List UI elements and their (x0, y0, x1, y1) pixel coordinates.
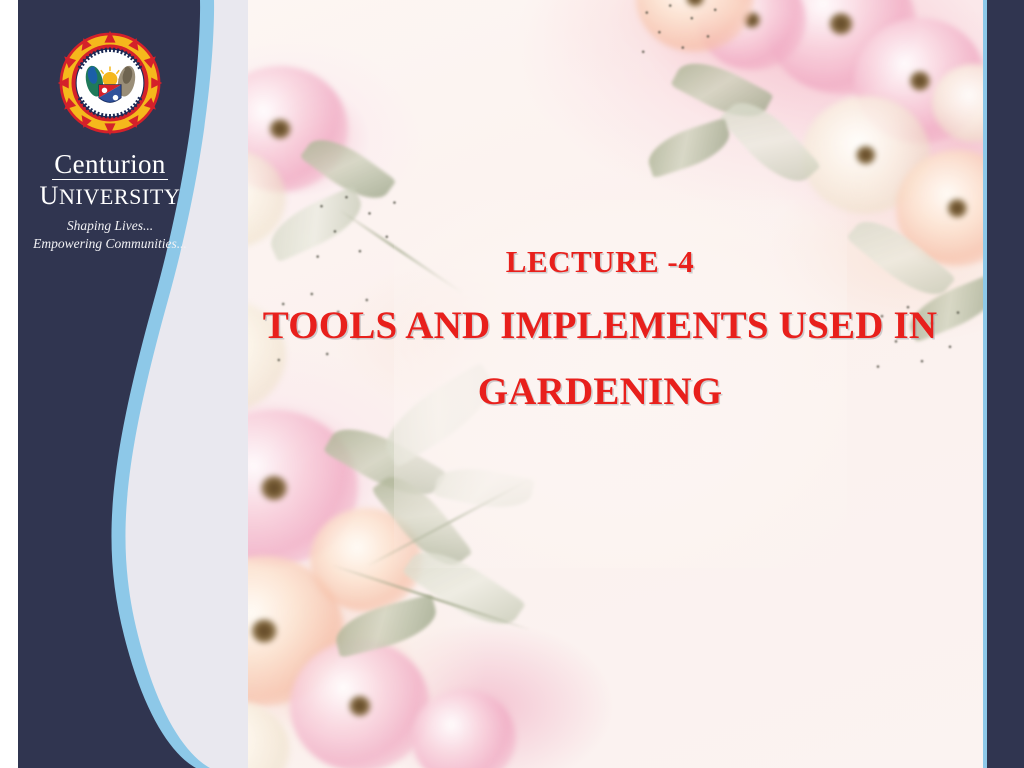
brand-tagline: Shaping Lives... Empowering Communities.… (30, 217, 190, 253)
brand-name-centurion: Centurion (52, 150, 168, 180)
centurion-university-emblem-icon (55, 28, 165, 138)
slide-canvas: Centurion UNIVERSITY Shaping Lives... Em… (0, 0, 1024, 768)
brand-university-rest: NIVERSITY (59, 184, 181, 209)
brand-block: Centurion UNIVERSITY Shaping Lives... Em… (30, 28, 190, 253)
blossom-pink-bottom-left-1 (290, 640, 430, 768)
slide-title-block: LECTURE -4 TOOLS AND IMPLEMENTS USED IN … (240, 246, 960, 414)
lecture-number-label: LECTURE -4 (240, 246, 960, 279)
right-navy-band (987, 0, 1024, 768)
brand-university-initial: U (40, 181, 59, 210)
page-title-line-2: GARDENING (240, 371, 960, 414)
brand-name-university: UNIVERSITY (30, 182, 190, 211)
brand-tagline-line-2: Empowering Communities... (30, 235, 190, 253)
brand-name-row: Centurion (30, 138, 190, 180)
brand-tagline-line-1: Shaping Lives... (30, 217, 190, 235)
page-title-line-1: TOOLS AND IMPLEMENTS USED IN (240, 305, 960, 348)
berry-dots-top-right (636, 0, 726, 70)
